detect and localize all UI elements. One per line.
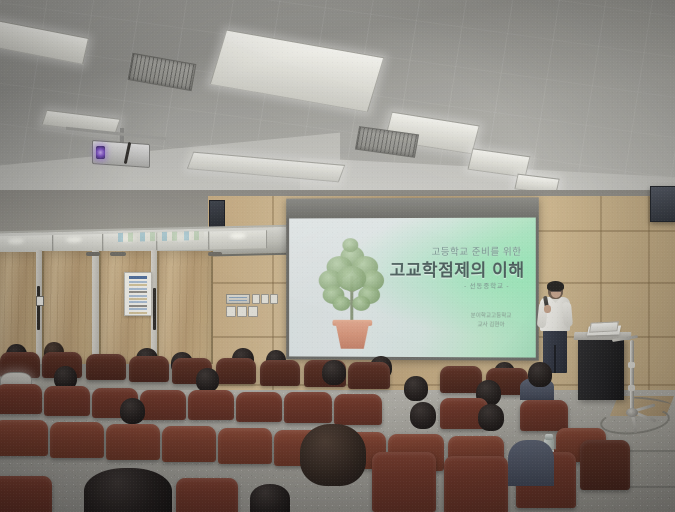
water-bottle-cap: [545, 434, 553, 440]
projector-lens-icon: [96, 146, 105, 159]
seat: [348, 362, 390, 389]
light-switch[interactable]: [261, 294, 269, 304]
poster-row: [129, 288, 147, 290]
door-wood-grain: [159, 251, 211, 364]
slide-subtitle: - 선동중학교 -: [464, 280, 509, 290]
seat: [106, 424, 160, 460]
slide-title-main: 고교학점제의 이해: [390, 256, 525, 281]
seat: [444, 456, 508, 512]
door-handle[interactable]: [153, 288, 156, 330]
seat: [188, 390, 234, 420]
slide-org-line-1: 분이학교고등학교: [471, 312, 512, 321]
seat: [218, 428, 272, 464]
seat: [520, 400, 568, 431]
light-switch[interactable]: [252, 294, 260, 304]
poster-row: [129, 295, 147, 297]
poster-row: [129, 305, 147, 307]
door-lock-plate[interactable]: [36, 296, 44, 306]
tree-foliage: [352, 296, 370, 311]
mic-stand-knob: [628, 362, 635, 368]
laptop: [589, 321, 619, 332]
mic-stand-base: [626, 408, 638, 417]
audience-head: [322, 360, 346, 385]
poster-row: [129, 298, 147, 300]
door-closer: [208, 252, 222, 256]
tree-foliage: [333, 296, 351, 311]
audience-head: [528, 362, 552, 387]
seat: [216, 358, 256, 384]
seat: [372, 452, 436, 512]
audience-head: [300, 424, 366, 486]
wall-control-panel[interactable]: [226, 294, 250, 304]
flower-pot: [335, 323, 369, 349]
seat: [236, 392, 282, 422]
poster-title-bar: [129, 276, 147, 279]
audience-head: [84, 468, 172, 512]
seat: [334, 394, 382, 425]
seat: [44, 386, 90, 416]
seat: [0, 384, 42, 414]
poster-row: [129, 301, 147, 303]
light-switch[interactable]: [226, 306, 236, 317]
lectern: [578, 338, 624, 400]
presentation-slide: 고등학교 준비를 위한 고교학점제의 이해 - 선동중학교 - 분이학교고등학교…: [289, 218, 536, 358]
audience-head: [196, 368, 219, 392]
light-switch[interactable]: [248, 306, 258, 317]
audience-head: [250, 484, 290, 512]
presenter-hair: [547, 281, 564, 291]
door-jamb: [92, 250, 99, 364]
seat: [86, 354, 126, 380]
slide-organization-block: 분이학교고등학교 교사 김현아: [471, 312, 512, 331]
seat: [0, 476, 52, 512]
screen-valance: [286, 197, 539, 218]
audience-head: [404, 376, 428, 401]
presenter-hand: [544, 305, 551, 313]
poster-row: [129, 284, 147, 286]
projection-screen: 고등학교 준비를 위한 고교학점제의 이해 - 선동중학교 - 분이학교고등학교…: [286, 197, 539, 360]
control-panel-line: [229, 300, 247, 301]
light-switch[interactable]: [270, 294, 278, 304]
door-closer: [86, 252, 100, 256]
audience-head: [120, 398, 145, 424]
poster-row: [129, 291, 147, 293]
seat: [162, 426, 216, 462]
poster-row: [129, 312, 147, 314]
light-switch[interactable]: [237, 306, 247, 317]
seat: [284, 392, 332, 423]
seat: [50, 422, 104, 458]
mic-stand-pole: [630, 340, 634, 412]
door-closer: [110, 252, 126, 256]
poster-row: [129, 308, 147, 310]
seat: [260, 360, 300, 386]
tree-foliage: [342, 238, 358, 252]
wall-speaker-2: [209, 200, 225, 228]
seat: [580, 440, 630, 490]
seat: [129, 356, 169, 382]
presenter-leg-separation: [554, 345, 556, 373]
seat: [140, 390, 186, 420]
seat: [176, 478, 238, 512]
wall-speaker: [650, 186, 675, 222]
mic-stand-knob-2: [628, 385, 635, 391]
audience-head: [410, 402, 436, 429]
poster-row: [129, 281, 147, 283]
seat: [0, 420, 48, 456]
door-4[interactable]: [157, 251, 213, 364]
audience-head: [478, 404, 504, 431]
slide-org-line-2: 교사 김현아: [471, 321, 512, 331]
auditorium-photo: 고등학교 준비를 위한 고교학점제의 이해 - 선동중학교 - 분이학교고등학교…: [0, 0, 675, 512]
panel-seam-vertical: [648, 196, 650, 411]
control-panel-line: [229, 297, 247, 298]
audience-shoulders: [508, 440, 554, 486]
door-handle[interactable]: [37, 286, 40, 330]
door-notice-poster: [124, 272, 152, 316]
